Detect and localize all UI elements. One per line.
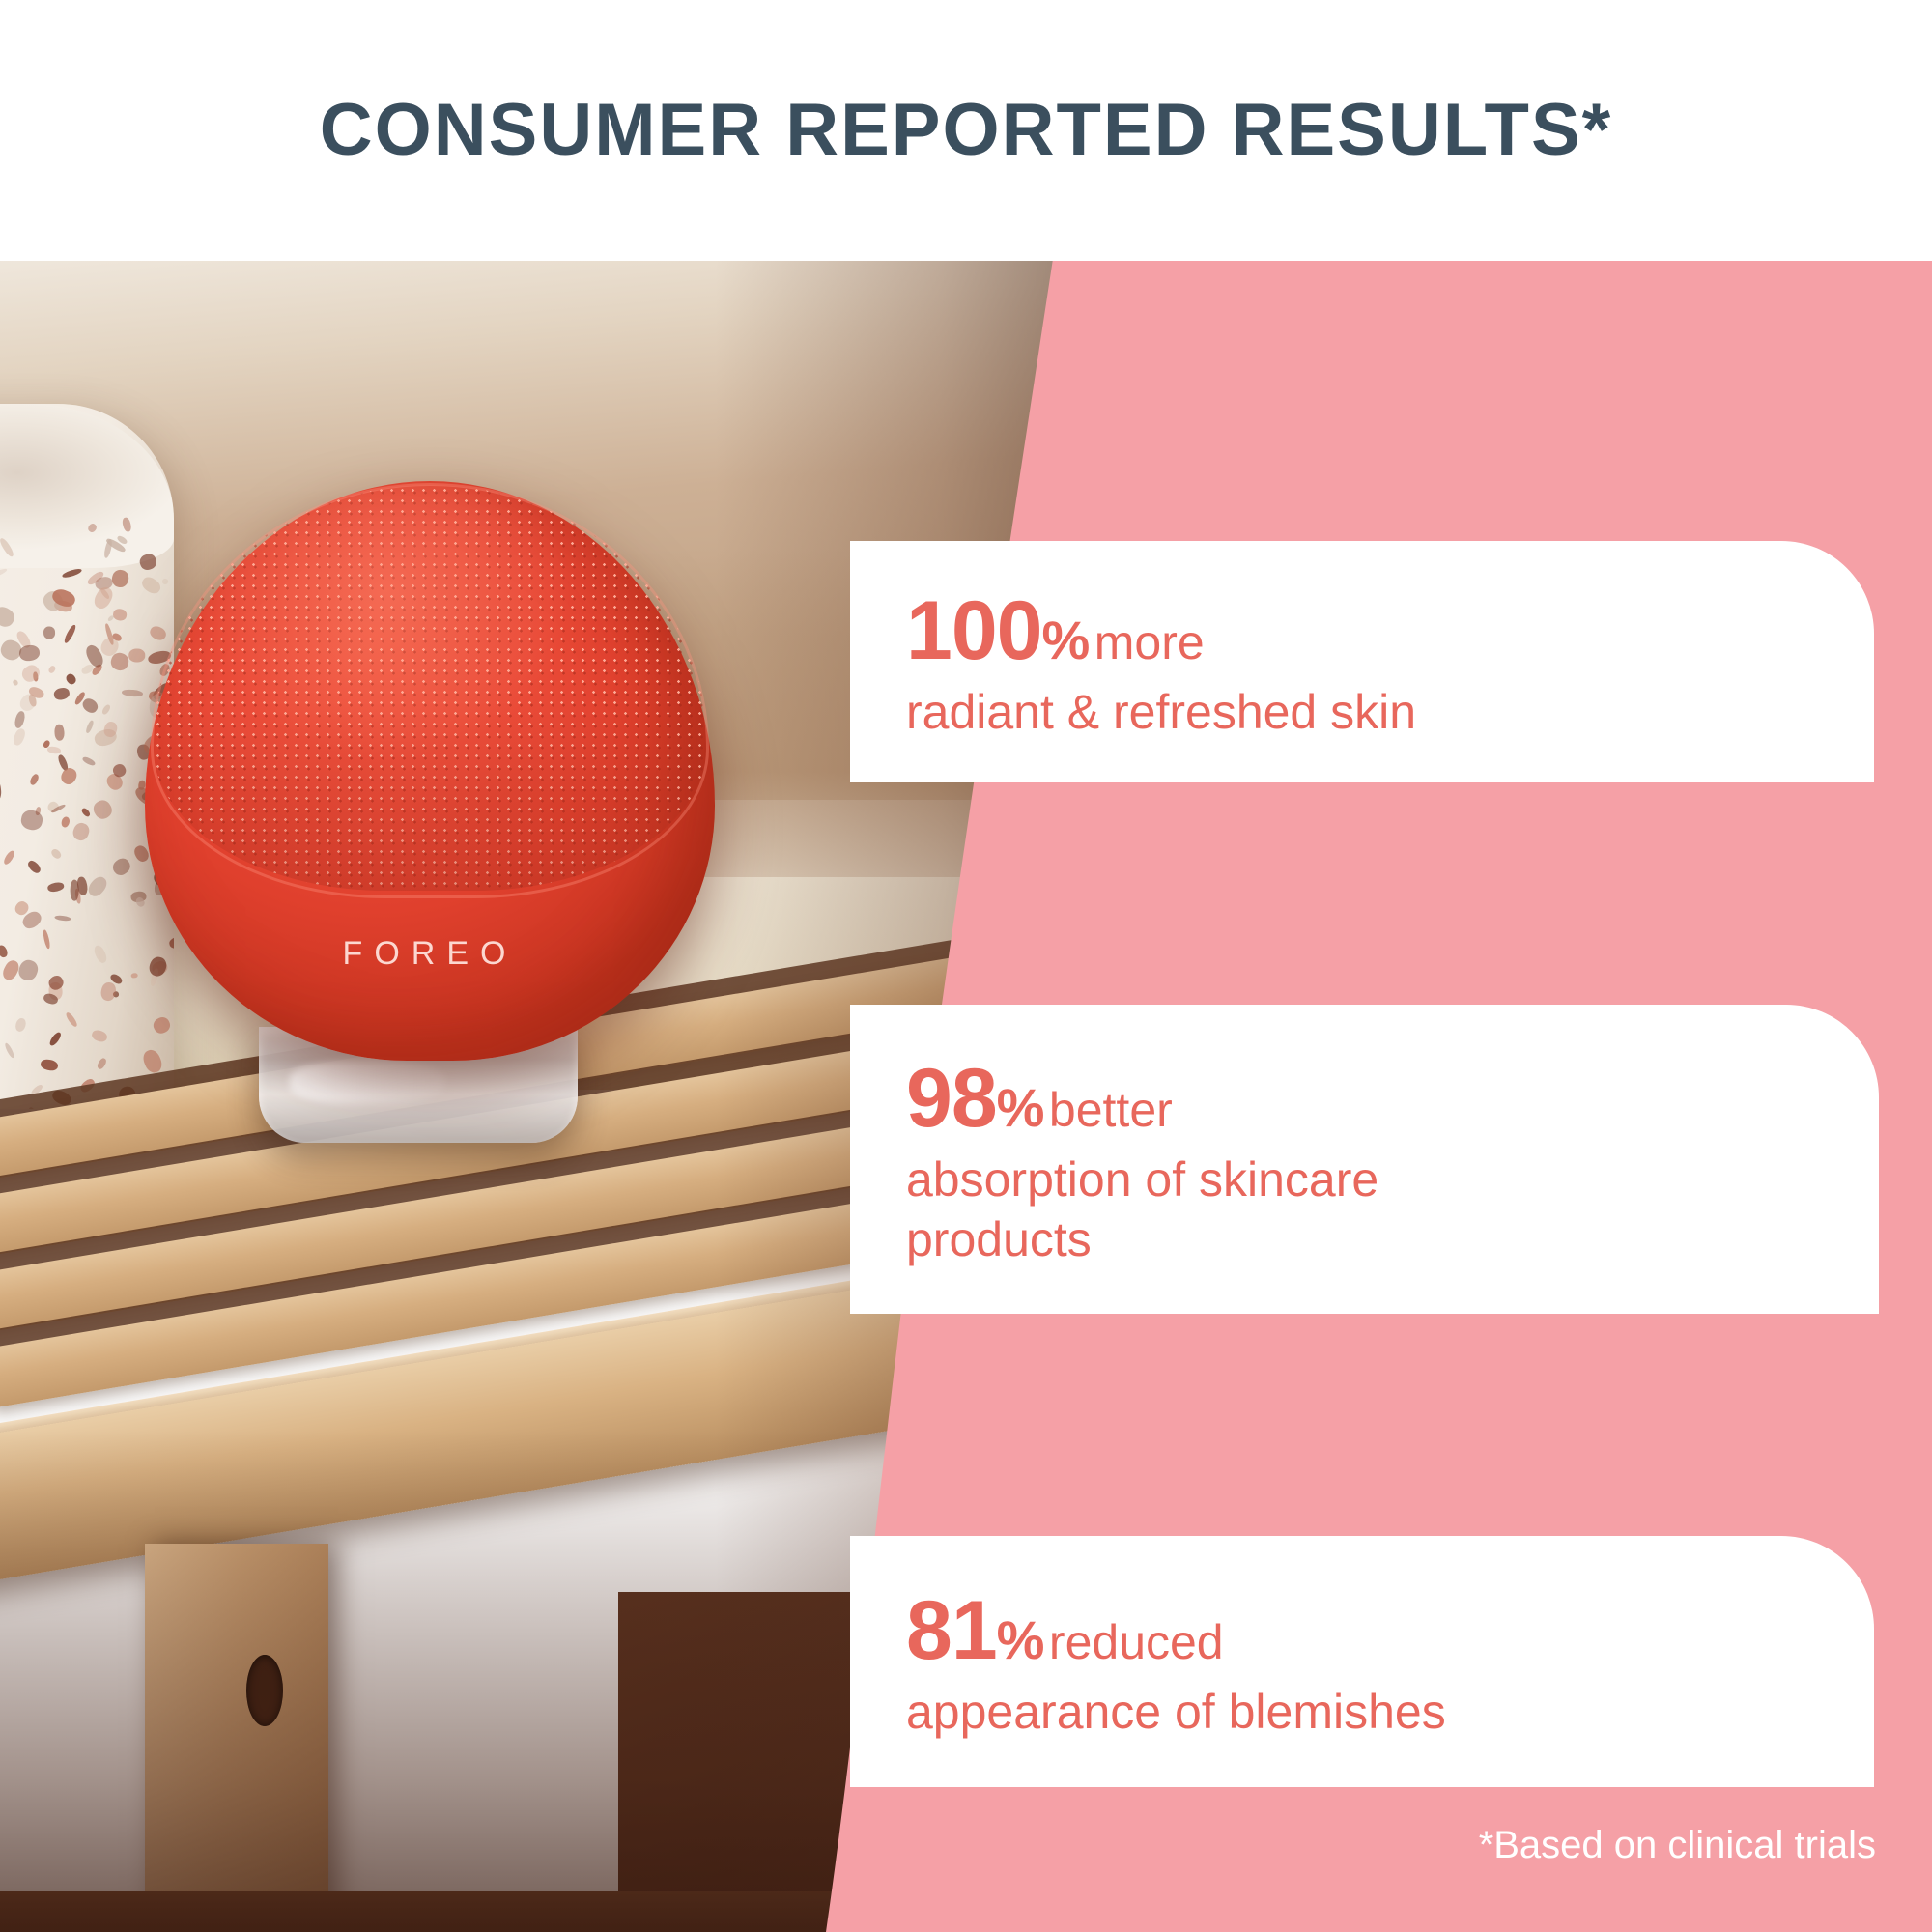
stat-card-3-text: 81% reduced appearance of blemishes — [850, 1583, 1485, 1740]
stat-1-label: more — [1094, 615, 1205, 669]
stat-2-sub2: products — [906, 1211, 1378, 1267]
stat-card-1-headline: 100% more — [906, 583, 1416, 680]
stat-card-3-headline: 81% reduced — [906, 1583, 1446, 1680]
stat-card-1-text: 100% more radiant & refreshed skin — [850, 583, 1455, 740]
stat-2-label: better — [1049, 1083, 1173, 1137]
stat-3-value: 81 — [906, 1584, 997, 1677]
stat-1-percent: % — [1042, 610, 1091, 670]
stat-3-percent: % — [997, 1609, 1045, 1670]
stat-3-sub: appearance of blemishes — [906, 1684, 1446, 1740]
stat-card-3: 81% reduced appearance of blemishes — [850, 1536, 1874, 1787]
stat-card-2-headline: 98% better — [906, 1051, 1378, 1148]
stat-2-value: 98 — [906, 1052, 997, 1145]
stat-2-percent: % — [997, 1077, 1045, 1138]
stat-1-sub: radiant & refreshed skin — [906, 684, 1416, 740]
stat-3-label: reduced — [1049, 1615, 1224, 1669]
stat-card-1: 100% more radiant & refreshed skin — [850, 541, 1874, 782]
stat-1-value: 100 — [906, 584, 1042, 677]
page-title: CONSUMER REPORTED RESULTS* — [320, 94, 1612, 167]
infographic-canvas: CONSUMER REPORTED RESULTS* — [0, 0, 1932, 1932]
stat-card-2: 98% better absorption of skincare produc… — [850, 1005, 1879, 1314]
header-band: CONSUMER REPORTED RESULTS* — [0, 0, 1932, 261]
stat-card-2-text: 98% better absorption of skincare produc… — [850, 1051, 1417, 1267]
stat-2-sub: absorption of skincare — [906, 1151, 1378, 1207]
footnote-disclaimer: *Based on clinical trials — [1479, 1824, 1876, 1867]
